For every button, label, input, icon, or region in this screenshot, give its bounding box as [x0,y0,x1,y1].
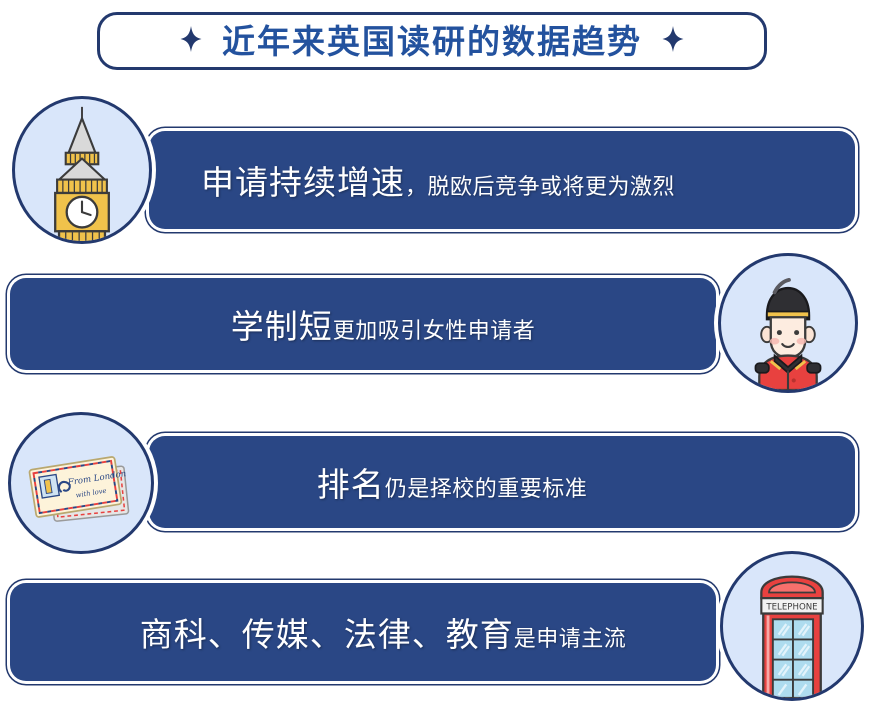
postcard-icon: From London with love [8,412,154,554]
infographic-root: 近年来英国读研的数据趋势 申请持续增速 ，脱欧后竞争或将更为激烈 [0,0,870,699]
statement-subline-2: 更加吸引女性申请者 [333,313,536,345]
telephone-booth-icon: TELEPHONE [720,551,864,701]
statement-headline-1: 申请持续增速 [201,156,405,204]
statement-bar-1: 申请持续增速 ，脱欧后竞争或将更为激烈 [149,131,855,229]
statement-bar-2: 学制短 更加吸引女性申请者 [10,278,716,370]
royal-guard-icon [718,253,858,393]
page-title-banner: 近年来英国读研的数据趋势 [97,12,767,70]
statement-headline-4: 商科、传媒、法律、教育 [140,608,514,656]
telephone-sign-label: TELEPHONE [765,603,817,613]
big-ben-icon [12,96,152,244]
statement-bar-4: 商科、传媒、法律、教育 是申请主流 [10,583,716,681]
sparkle-icon [662,26,684,57]
statement-bar-3: 排名 仍是择校的重要标准 [149,436,855,528]
statement-subline-4: 是申请主流 [514,621,627,653]
sparkle-icon [180,26,202,57]
statement-headline-2: 学制短 [231,300,333,348]
statement-subline-3: 仍是择校的重要标准 [385,471,588,503]
statement-subline-1: ，脱欧后竞争或将更为激烈 [405,169,675,201]
statement-headline-3: 排名 [317,458,385,506]
page-title: 近年来英国读研的数据趋势 [222,25,642,58]
